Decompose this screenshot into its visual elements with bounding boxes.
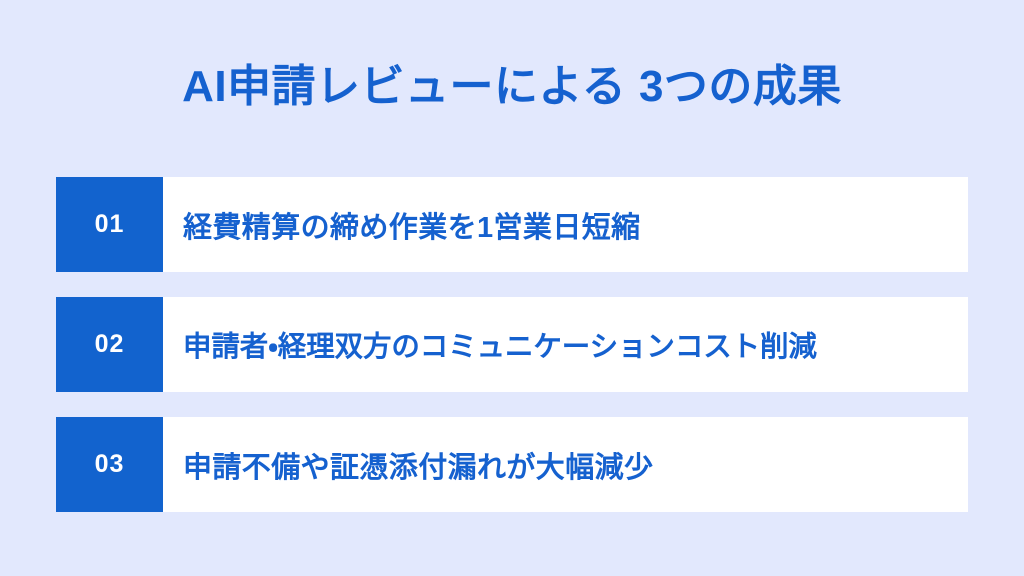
list-item-number-badge: 01	[56, 177, 163, 272]
list-item-number-badge: 02	[56, 297, 163, 392]
list-item: 03 申請不備や証憑添付漏れが大幅減少	[56, 417, 968, 512]
list-item-label: 申請不備や証憑添付漏れが大幅減少	[163, 417, 968, 512]
slide-canvas: AI申請レビューによる 3つの成果 01 経費精算の締め作業を1営業日短縮 02…	[0, 0, 1024, 576]
outcome-list: 01 経費精算の締め作業を1営業日短縮 02 申請者・経理双方のコミュニケーショ…	[56, 177, 968, 512]
list-item-number-badge: 03	[56, 417, 163, 512]
page-title: AI申請レビューによる 3つの成果	[182, 58, 842, 116]
list-item-label: 経費精算の締め作業を1営業日短縮	[163, 177, 968, 272]
list-item: 01 経費精算の締め作業を1営業日短縮	[56, 177, 968, 272]
list-item: 02 申請者・経理双方のコミュニケーションコスト削減	[56, 297, 968, 392]
list-item-label: 申請者・経理双方のコミュニケーションコスト削減	[163, 297, 968, 392]
title-area: AI申請レビューによる 3つの成果	[0, 58, 1024, 116]
